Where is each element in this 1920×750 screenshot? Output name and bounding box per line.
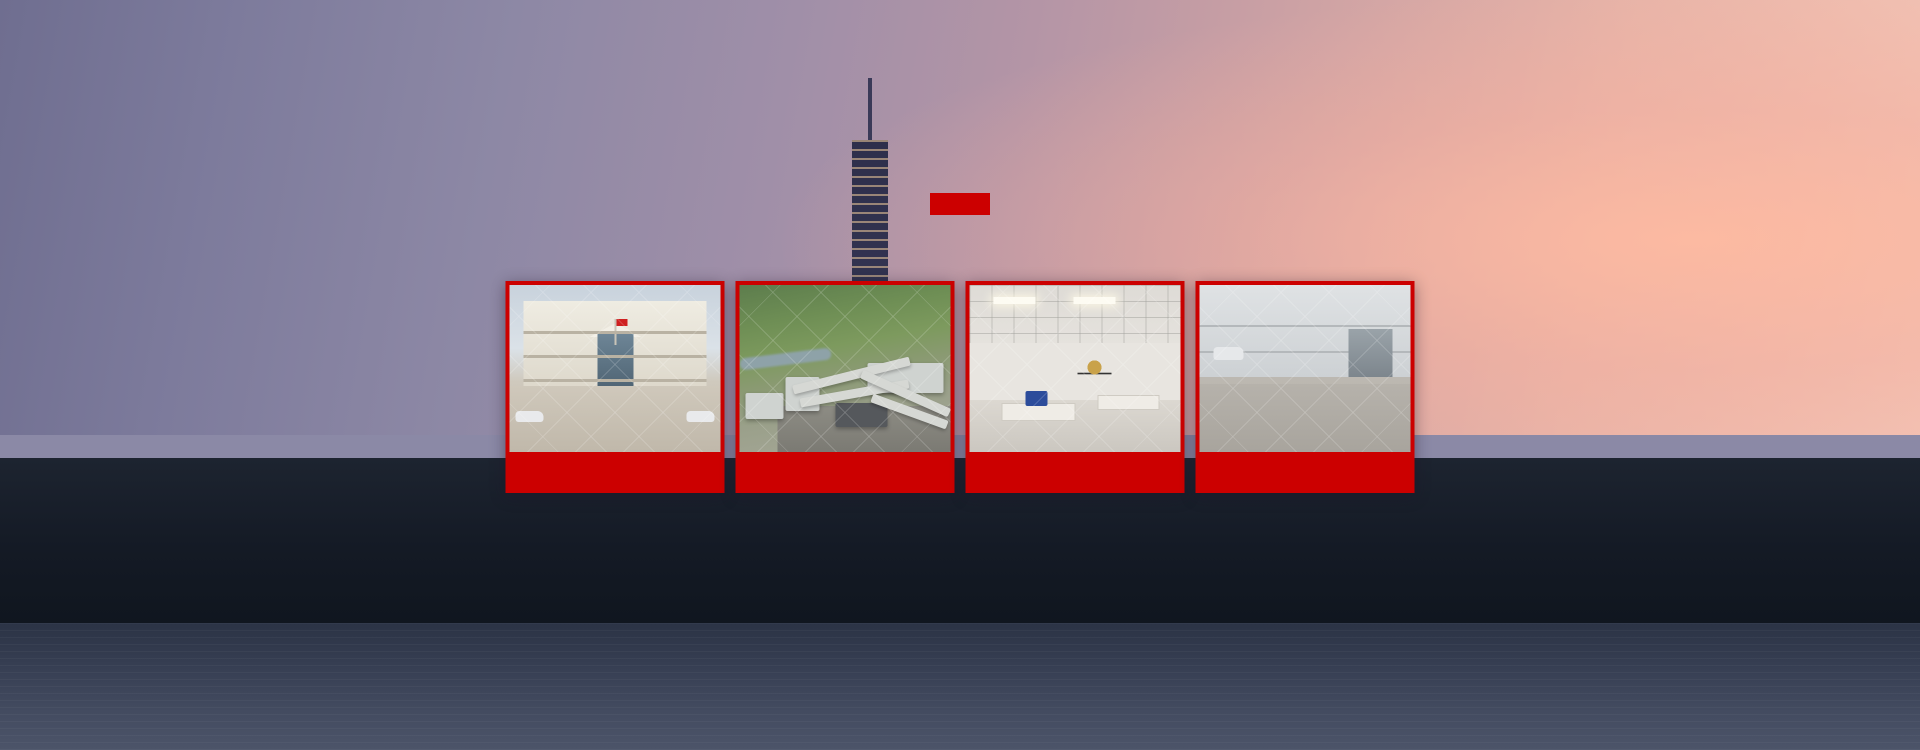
- ceiling-light: [1074, 297, 1116, 304]
- feature-card-list: [506, 281, 1415, 493]
- laptop-icon: [1026, 391, 1048, 406]
- feature-card[interactable]: [506, 281, 725, 493]
- card-photo-office-interior: [970, 285, 1181, 452]
- factory-door: [1349, 329, 1393, 377]
- factory-facade: [1200, 285, 1411, 377]
- card-caption: [970, 452, 1181, 493]
- hero-banner: [0, 0, 1920, 750]
- car-icon: [1214, 347, 1244, 360]
- ceiling-light: [994, 297, 1036, 304]
- card-photo-aerial-plant: [740, 285, 951, 452]
- building-facade: [524, 301, 707, 389]
- car-icon: [516, 411, 544, 422]
- card-photo-workers: [1200, 285, 1411, 452]
- feature-card[interactable]: [1196, 281, 1415, 493]
- card-photo-office-building: [510, 285, 721, 452]
- plant-river: [740, 347, 832, 370]
- feature-card[interactable]: [966, 281, 1185, 493]
- wall-logo-icon: [1078, 357, 1112, 383]
- banner-content: [0, 0, 1920, 750]
- card-caption: [740, 452, 951, 493]
- feature-card[interactable]: [736, 281, 955, 493]
- card-caption: [1200, 452, 1411, 493]
- subtitle-badge: [930, 193, 990, 215]
- car-icon: [687, 411, 715, 422]
- factory-yard: [1200, 384, 1411, 452]
- card-caption: [510, 452, 721, 493]
- ceiling-grid: [970, 285, 1181, 343]
